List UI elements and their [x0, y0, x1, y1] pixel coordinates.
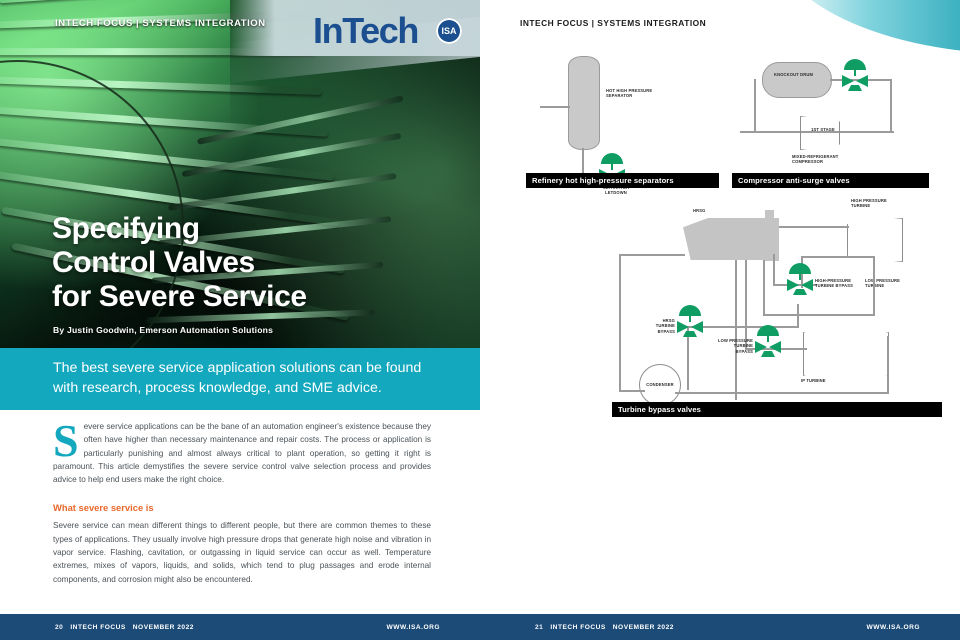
hrsg-outlet-box — [765, 248, 779, 261]
compressor-stage-body — [800, 116, 840, 150]
magazine-spread: INTECH FOCUS | SYSTEMS INTEGRATION InTec… — [0, 0, 960, 640]
left-footer-issue: NOVEMBER 2022 — [133, 624, 194, 631]
left-page-number: 20 — [55, 624, 63, 631]
headline-line-3: for Severe Service — [52, 280, 307, 314]
condenser-return-riser — [619, 254, 621, 392]
hrsg-bypass-riser — [797, 304, 799, 328]
condenser-inlet — [619, 390, 645, 392]
hp-turbine-bypass-valve-icon — [787, 266, 813, 292]
hero-image: INTECH FOCUS | SYSTEMS INTEGRATION InTec… — [0, 0, 480, 348]
hrsg-down-2 — [745, 260, 747, 350]
left-footer: 20 INTECH FOCUS NOVEMBER 2022 WWW.ISA.OR… — [0, 614, 480, 640]
condenser-label: CONDENSER — [645, 382, 675, 387]
left-paragraph-2: Severe service can mean different things… — [53, 519, 431, 585]
knockout-drum-label: KNOCKOUT DRUM — [774, 72, 818, 77]
lp-exhaust-down — [887, 336, 889, 394]
page-title: Specifying Control Valves for Severe Ser… — [52, 212, 307, 315]
diagram-separator: HOT HIGH PRESSURE SEPARATOR SEPARATOR LE… — [526, 48, 731, 193]
condenser-outlet-main — [675, 392, 889, 394]
hp-branch-down — [773, 254, 775, 286]
hrsg-stack — [765, 210, 774, 232]
section-subhead: What severe service is — [53, 502, 431, 513]
compressor-stage-label: 1ST STAGE — [810, 127, 836, 132]
byline: By Justin Goodwin, Emerson Automation So… — [53, 325, 273, 335]
isa-logo: ISA — [436, 18, 462, 44]
left-footer-publication: INTECH FOCUS — [70, 624, 125, 631]
headline-line-1: Specifying — [52, 212, 307, 246]
compressor-label: MIXED-REFRIGERANT COMPRESSOR — [792, 154, 854, 165]
hp-turbine-label: HIGH PRESSURE TURBINE — [851, 198, 901, 209]
turbine-caption: Turbine bypass valves — [612, 402, 942, 417]
hp-return-down — [873, 256, 875, 316]
compressor-right-riser — [890, 79, 892, 133]
separator-vessel — [568, 56, 600, 150]
ip-turbine-label: IP TURBINE — [801, 378, 841, 383]
hp-return-line — [763, 314, 875, 316]
diagram-turbine-bypass: HRSG HIGH PRESSURE TURBINE LOW PRESSURE … — [615, 196, 947, 420]
hrsg-down-1 — [763, 260, 765, 316]
hrsg-label: HRSG — [693, 208, 705, 213]
right-footer: 21 INTECH FOCUS NOVEMBER 2022 WWW.ISA.OR… — [480, 614, 960, 640]
left-kicker: INTECH FOCUS | SYSTEMS INTEGRATION — [55, 18, 266, 29]
right-page: INTECH FOCUS | SYSTEMS INTEGRATION HOT H… — [480, 0, 960, 640]
left-footer-url: WWW.ISA.ORG — [387, 624, 440, 631]
hrsg-turbine-bypass-valve-icon — [677, 308, 703, 334]
lede-text: evere service applications can be the ba… — [53, 422, 431, 484]
deck-text: The best severe service application solu… — [0, 348, 480, 398]
hp-steam-line — [779, 226, 849, 228]
hrsg-bypass-header — [687, 326, 799, 328]
right-footer-left: 21 INTECH FOCUS NOVEMBER 2022 — [535, 624, 674, 631]
knockout-drum — [762, 62, 832, 98]
left-body-column: Severe service applications can be the b… — [53, 420, 431, 597]
separator-caption: Refinery hot high-pressure separators — [526, 173, 719, 188]
lede-paragraph: Severe service applications can be the b… — [53, 420, 431, 486]
lp-bypass-valve-label: LOW PRESSURE TURBINE BYPASS — [717, 338, 753, 354]
lp-turbine-bypass-valve-icon — [755, 328, 781, 354]
teal-swoosh-graphic — [750, 0, 960, 52]
diagram-compressor: KNOCKOUT DRUM 1ST STAGE MIXED-REFRIGERAN… — [732, 48, 947, 193]
ip-lp-turbine-body — [803, 332, 889, 376]
hrsg-bypass-valve-label: HRSG TURBINE BYPASS — [643, 318, 675, 334]
hrsg-down-3 — [735, 260, 737, 400]
hp-bypass-valve-label: HIGH-PRESSURE TURBINE BYPASS — [815, 278, 865, 289]
right-footer-publication: INTECH FOCUS — [550, 624, 605, 631]
condenser-return-top — [619, 254, 685, 256]
intech-logo: InTech — [313, 10, 418, 52]
anti-surge-valve-icon — [842, 62, 868, 88]
compressor-caption: Compressor anti-surge valves — [732, 173, 929, 188]
right-kicker: INTECH FOCUS | SYSTEMS INTEGRATION — [520, 18, 706, 28]
left-page: INTECH FOCUS | SYSTEMS INTEGRATION InTec… — [0, 0, 480, 640]
separator-vessel-label: HOT HIGH PRESSURE SEPARATOR — [606, 88, 664, 99]
headline-line-2: Control Valves — [52, 246, 307, 280]
hp-bypass-top — [801, 256, 875, 258]
drop-cap: S — [53, 422, 79, 460]
separator-inlet-pipe — [540, 106, 570, 108]
deck-band: The best severe service application solu… — [0, 348, 480, 410]
right-footer-issue: NOVEMBER 2022 — [613, 624, 674, 631]
separator-downcomer — [582, 148, 584, 176]
right-footer-url: WWW.ISA.ORG — [867, 624, 920, 631]
left-footer-left: 20 INTECH FOCUS NOVEMBER 2022 — [55, 624, 194, 631]
compressor-left-riser — [754, 79, 756, 133]
right-page-number: 21 — [535, 624, 543, 631]
